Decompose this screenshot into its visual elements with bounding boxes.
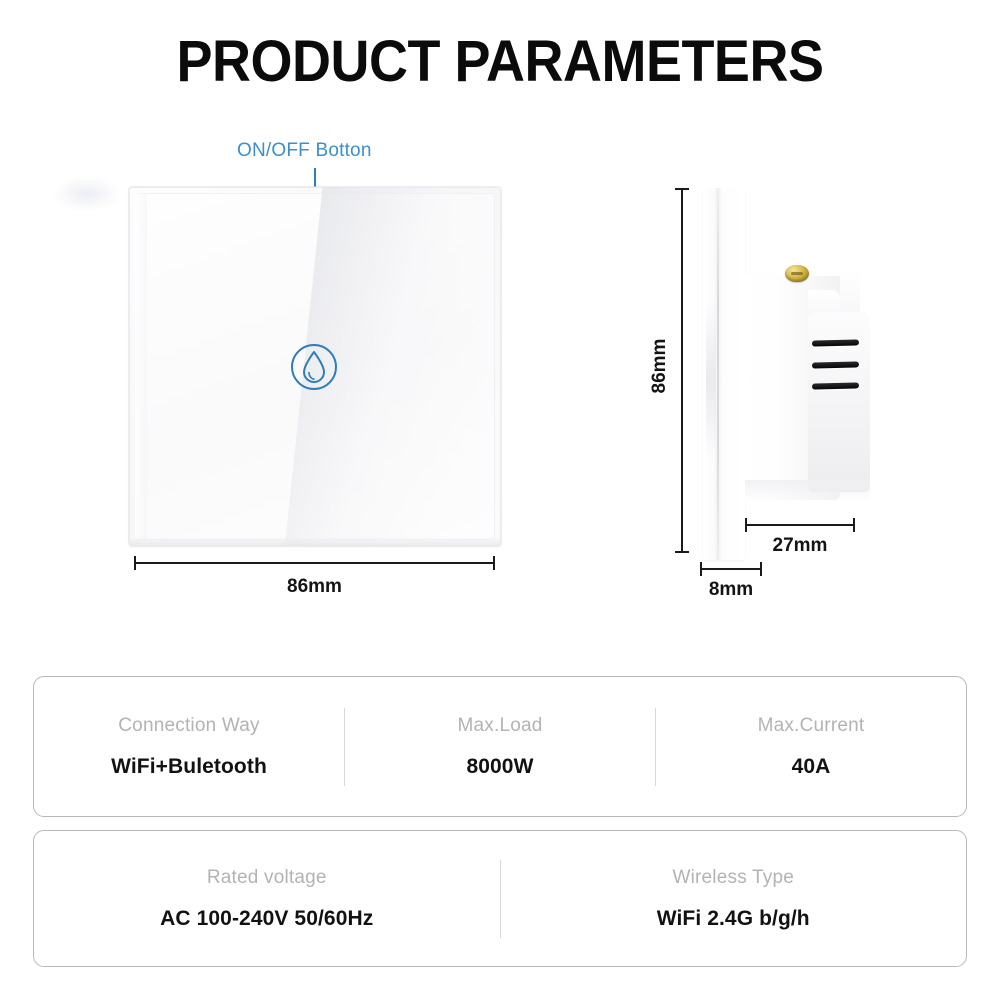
front-width-dimension-line — [134, 556, 495, 570]
dimension-cap-right — [760, 562, 762, 576]
glass-thickness-dimension-line — [700, 562, 762, 576]
screw-slot-icon — [791, 272, 803, 275]
vent-slot-icon — [812, 339, 859, 346]
spec-label: Connection Way — [118, 715, 260, 737]
spec-label: Max.Current — [758, 715, 865, 737]
dimension-bar — [134, 562, 495, 564]
dimension-cap-left — [134, 556, 136, 570]
page-title: PRODUCT PARAMETERS — [35, 28, 965, 95]
spec-label: Rated voltage — [207, 867, 327, 889]
spec-value: 40A — [792, 755, 831, 779]
spec-card-primary: Connection Way WiFi+Buletooth Max.Load 8… — [33, 676, 967, 817]
spec-value: WiFi+Buletooth — [111, 755, 267, 779]
spec-row: Rated voltage AC 100-240V 50/60Hz Wirele… — [34, 831, 966, 966]
spec-value: 8000W — [466, 755, 533, 779]
dimension-bar — [700, 568, 762, 570]
spec-value: WiFi 2.4G b/g/h — [657, 907, 810, 931]
side-depth-dimension-label: 27mm — [745, 535, 855, 557]
spec-label: Wireless Type — [672, 867, 794, 889]
dimension-cap-right — [853, 518, 855, 532]
dimension-cap-right — [493, 556, 495, 570]
spec-cell-connection-way: Connection Way WiFi+Buletooth — [34, 715, 344, 779]
vent-slot-icon — [812, 361, 859, 368]
spec-cell-max-load: Max.Load 8000W — [345, 715, 655, 779]
dimension-cap-left — [700, 562, 702, 576]
panel-bottom-edge — [129, 537, 501, 546]
spec-row: Connection Way WiFi+Buletooth Max.Load 8… — [34, 677, 966, 816]
dimension-bar — [681, 188, 683, 553]
side-profile-view: 86mm 27mm 8mm — [640, 180, 880, 580]
spec-label: Max.Load — [457, 715, 542, 737]
spec-cell-wireless-type: Wireless Type WiFi 2.4G b/g/h — [501, 867, 967, 931]
spec-cell-rated-voltage: Rated voltage AC 100-240V 50/60Hz — [34, 867, 500, 931]
spec-card-secondary: Rated voltage AC 100-240V 50/60Hz Wirele… — [33, 830, 967, 967]
glass-thickness-dimension-label: 8mm — [685, 579, 777, 601]
side-height-dimension-line — [675, 188, 689, 553]
spec-value: AC 100-240V 50/60Hz — [160, 907, 373, 931]
dimension-bar — [745, 524, 855, 526]
back-module-bottom-shadow — [745, 480, 870, 502]
vent-slot-icon — [812, 382, 859, 389]
side-glass-highlight — [706, 300, 716, 460]
dimension-cap-bottom — [675, 551, 689, 553]
dimension-cap-top — [675, 188, 689, 190]
side-depth-dimension-line — [745, 518, 855, 532]
water-droplet-icon[interactable] — [288, 341, 340, 393]
front-width-dimension-label: 86mm — [134, 576, 495, 598]
spec-cell-max-current: Max.Current 40A — [656, 715, 966, 779]
onoff-button-annotation-label: ON/OFF Botton — [237, 140, 372, 162]
side-height-dimension-label: 86mm — [649, 306, 671, 426]
watermark-artifact — [52, 176, 122, 212]
dimension-cap-left — [745, 518, 747, 532]
product-parameters-page: PRODUCT PARAMETERS ON/OFF Botton 86mm — [0, 0, 1000, 1000]
